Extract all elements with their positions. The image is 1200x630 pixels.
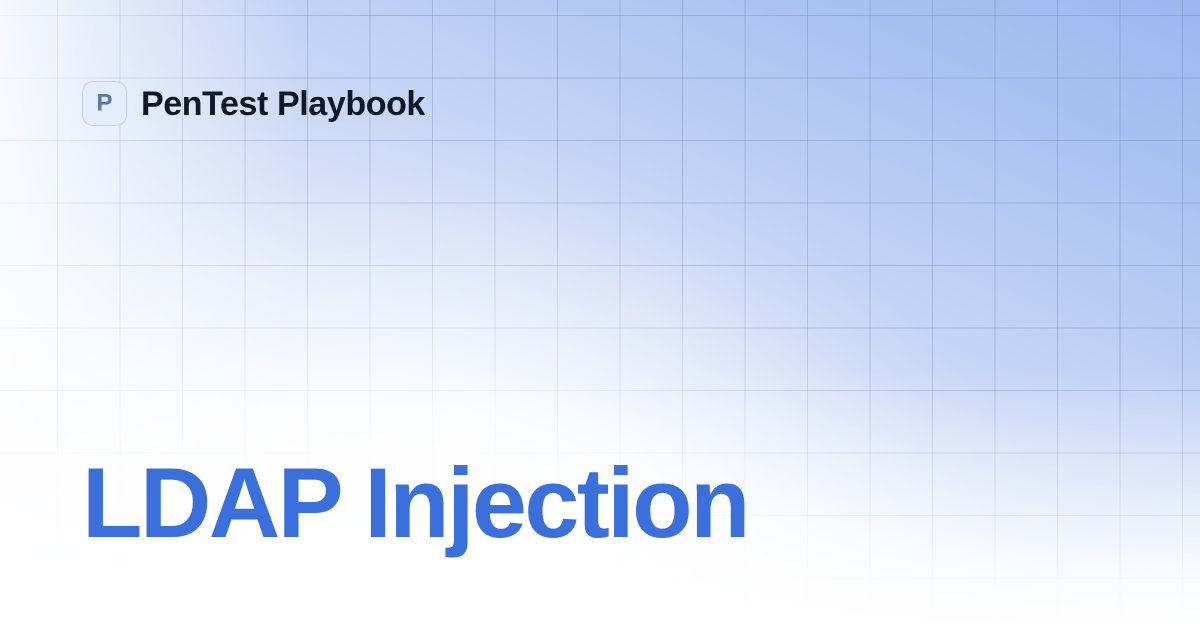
brand-name: PenTest Playbook (141, 87, 425, 121)
card-content: P PenTest Playbook LDAP Injection (0, 0, 1200, 630)
brand-lockup: P PenTest Playbook (82, 81, 425, 126)
page-title: LDAP Injection (82, 451, 748, 556)
letter-p-badge-icon: P (82, 81, 127, 126)
page-title-text: LDAP Injection (82, 451, 748, 556)
brand-badge-letter: P (96, 91, 112, 115)
og-banner-card: P PenTest Playbook LDAP Injection (0, 0, 1200, 630)
